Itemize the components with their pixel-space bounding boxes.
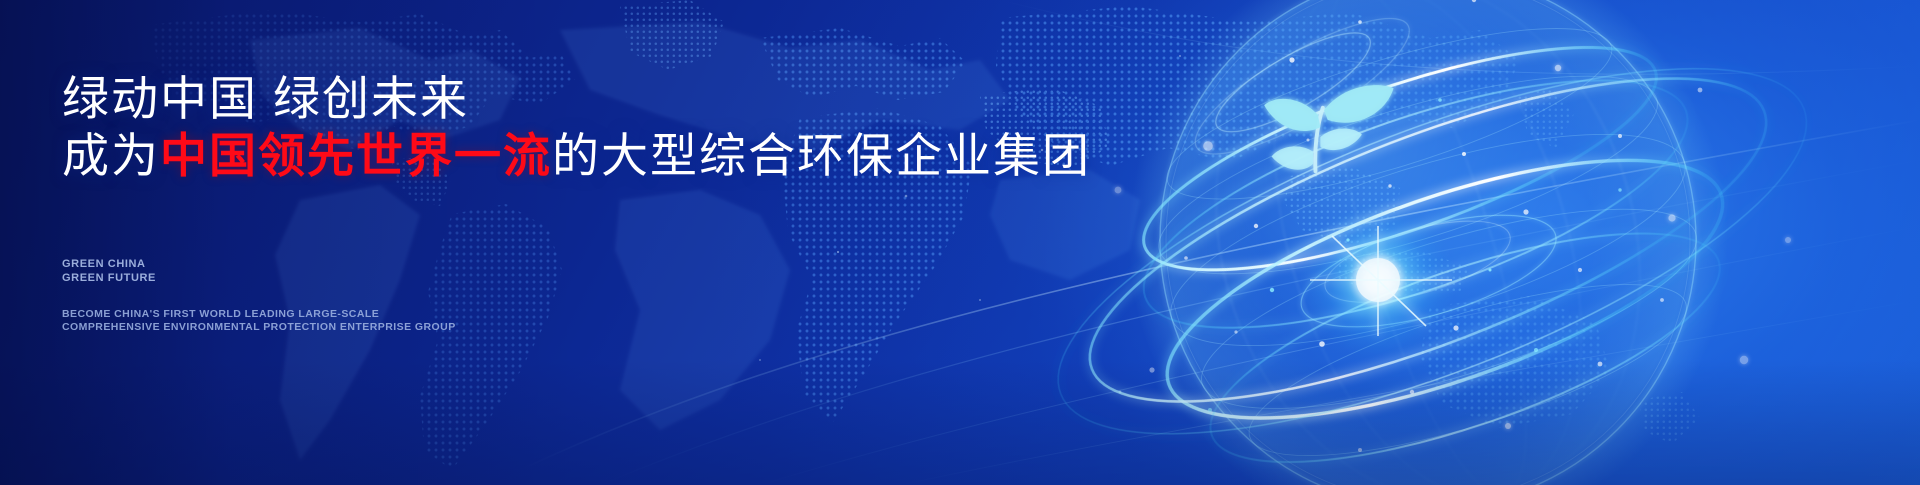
- tagline-en-line-1: GREEN CHINA: [62, 258, 156, 272]
- subtitle-en-line-2: COMPREHENSIVE ENVIRONMENTAL PROTECTION E…: [62, 321, 456, 334]
- tagline-en-line-2: GREEN FUTURE: [62, 272, 156, 286]
- headline-line-2: 成为中国领先世界一流的大型综合环保企业集团: [62, 129, 1091, 182]
- hero-banner: 绿动中国 绿创未来 成为中国领先世界一流的大型综合环保企业集团 GREEN CH…: [0, 0, 1920, 485]
- subtitle-en: BECOME CHINA'S FIRST WORLD LEADING LARGE…: [62, 308, 456, 334]
- headline-block: 绿动中国 绿创未来 成为中国领先世界一流的大型综合环保企业集团: [62, 72, 1091, 182]
- headline-suffix: 的大型综合环保企业集团: [552, 129, 1091, 182]
- tagline-en: GREEN CHINA GREEN FUTURE: [62, 258, 156, 285]
- headline-prefix: 成为: [62, 129, 160, 182]
- subtitle-en-line-1: BECOME CHINA'S FIRST WORLD LEADING LARGE…: [62, 308, 456, 321]
- headline-line-1: 绿动中国 绿创未来: [62, 72, 1091, 125]
- headline-highlight: 中国领先世界一流: [160, 129, 552, 182]
